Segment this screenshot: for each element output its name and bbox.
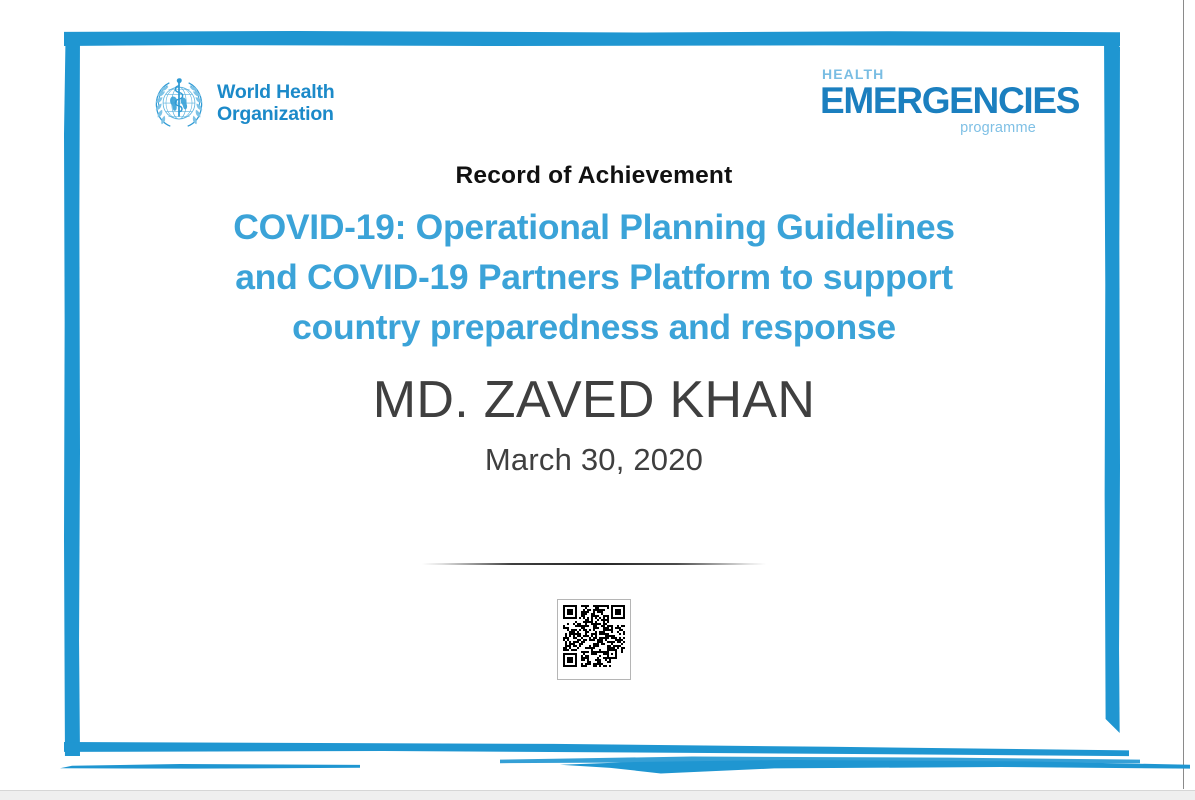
who-logo: World Health Organization — [150, 76, 335, 132]
divider-rule — [422, 563, 766, 565]
qr-code[interactable] — [557, 599, 631, 680]
qr-code-icon — [563, 605, 625, 667]
logo-row: World Health Organization HEALTH EMERGEN… — [84, 50, 1104, 140]
who-emblem-icon — [150, 76, 208, 132]
course-title-line-3: country preparedness and response — [109, 302, 1079, 352]
border-stroke-top — [64, 31, 1120, 46]
certificate-content: World Health Organization HEALTH EMERGEN… — [84, 50, 1104, 740]
border-stroke-left — [64, 33, 80, 756]
course-title-line-2: and COVID-19 Partners Platform to suppor… — [109, 252, 1079, 302]
health-emergencies-logo: HEALTH EMERGENCIES programme — [820, 67, 1040, 135]
who-wordmark: World Health Organization — [217, 82, 335, 126]
course-title-line-1: COVID-19: Operational Planning Guideline… — [109, 202, 1079, 252]
course-title: COVID-19: Operational Planning Guideline… — [109, 202, 1079, 352]
border-stroke-bottom — [64, 742, 1129, 758]
he-logo-programme-text: programme — [820, 121, 1036, 136]
page-bottom-strip — [0, 790, 1195, 800]
he-logo-emergencies-text: EMERGENCIES — [820, 82, 1040, 120]
record-of-achievement-label: Record of Achievement — [84, 162, 1104, 190]
recipient-name: MD. ZAVED KHAN — [84, 370, 1104, 430]
border-stroke-right — [1104, 33, 1120, 733]
certificate-page: World Health Organization HEALTH EMERGEN… — [0, 0, 1184, 789]
he-logo-health-text: HEALTH — [822, 67, 1040, 81]
award-date: March 30, 2020 — [84, 442, 1104, 478]
